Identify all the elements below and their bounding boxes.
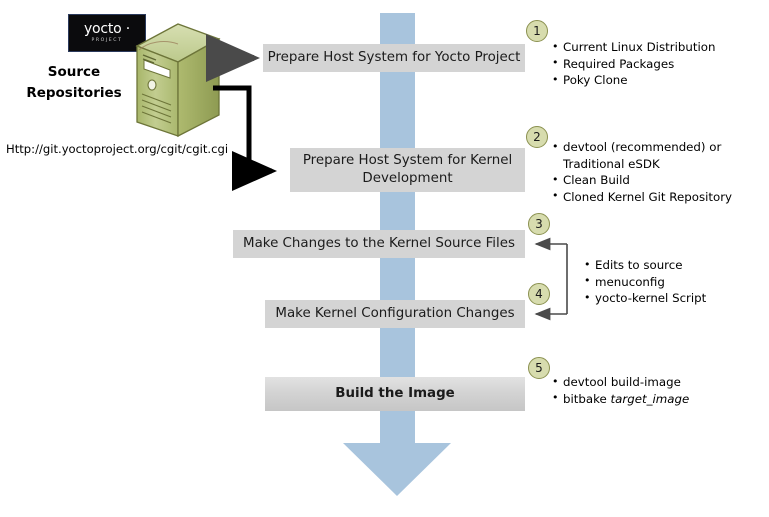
step-badge-5: 5: [528, 357, 550, 379]
logo-subtitle: PROJECT: [91, 37, 122, 44]
list-item: Poky Clone: [552, 72, 715, 89]
source-repository-url: Http://git.yoctoproject.org/cgit/cgit.cg…: [6, 142, 228, 156]
process-box-step-3[interactable]: Make Changes to the Kernel Source Files: [233, 230, 525, 258]
list-item-continuation: Traditional eSDK: [552, 156, 732, 173]
step-badge-4: 4: [528, 283, 550, 305]
list-item: Edits to source: [584, 257, 706, 274]
source-repositories-label: Source Repositories: [18, 62, 130, 104]
process-box-step-2[interactable]: Prepare Host System for Kernel Developme…: [290, 148, 525, 192]
bitbake-target: target_image: [611, 392, 690, 406]
source-label-line1: Source: [18, 62, 130, 83]
server-icon: [134, 22, 222, 140]
list-item: Required Packages: [552, 56, 715, 73]
flow-arrow-head: [343, 443, 451, 496]
list-item: Cloned Kernel Git Repository: [552, 189, 732, 206]
list-item: yocto-kernel Script: [584, 290, 706, 307]
process-box-step-1[interactable]: Prepare Host System for Yocto Project: [263, 44, 525, 72]
list-item: devtool (recommended) or: [552, 139, 732, 156]
list-item: bitbake target_image: [552, 391, 689, 408]
list-item: Current Linux Distribution: [552, 39, 715, 56]
bitbake-command: bitbake: [563, 392, 611, 406]
list-item: Clean Build: [552, 172, 732, 189]
step-badge-2: 2: [526, 126, 548, 148]
bullet-list-step-2: devtool (recommended) or Traditional eSD…: [552, 139, 732, 205]
process-box-step-5[interactable]: Build the Image: [265, 377, 525, 411]
process-box-step-2-line2: Development: [303, 170, 512, 188]
step-badge-3: 3: [528, 213, 550, 235]
process-box-step-4[interactable]: Make Kernel Configuration Changes: [265, 300, 525, 328]
step-badge-1: 1: [526, 20, 548, 42]
bullet-list-step-5: devtool build-image bitbake target_image: [552, 374, 689, 407]
process-box-step-2-line1: Prepare Host System for Kernel: [303, 152, 512, 170]
logo-wordmark: yocto ·: [84, 23, 130, 36]
bullet-list-step-1: Current Linux Distribution Required Pack…: [552, 39, 715, 89]
bullet-list-steps-3-4: Edits to source menuconfig yocto-kernel …: [584, 257, 706, 307]
list-item: devtool build-image: [552, 374, 689, 391]
workflow-diagram: yocto · PROJECT Source Repositories Http…: [0, 0, 769, 517]
source-label-line2: Repositories: [18, 83, 130, 104]
list-item: menuconfig: [584, 274, 706, 291]
